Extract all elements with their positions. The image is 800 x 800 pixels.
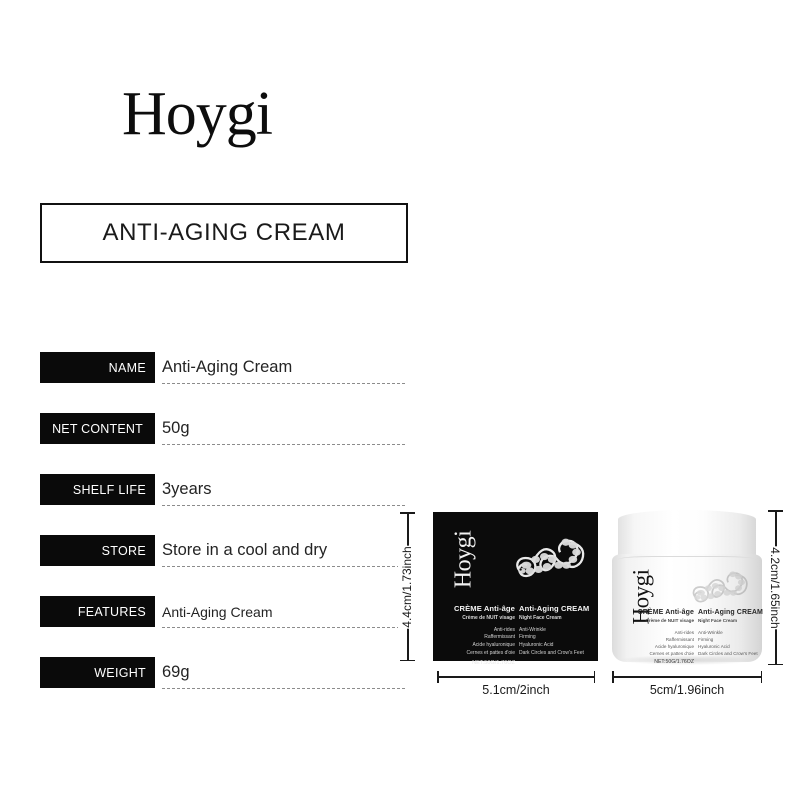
spec-value-cell: 3years [162, 474, 405, 506]
list-item: Acide hyaluronique [634, 643, 694, 650]
carton-label-text: CRÈME Anti-âge Crème de NUIT visage Anti… [441, 604, 593, 666]
spec-label-shelf-life: SHELF LIFE [40, 474, 155, 505]
jar-net-weight: NET:50G/1.76OZ [634, 659, 694, 665]
dimension-cap [612, 671, 614, 683]
jar-fr-head: CRÈME Anti-âge [634, 609, 694, 616]
dimension-jar-width-label: 5cm/1.96inch [650, 683, 724, 697]
carton-fr-benefits: Anti-rides Raffermissant Acide hyaluroni… [441, 627, 515, 658]
table-row: WEIGHT 69g [40, 657, 405, 718]
dimension-jar-height: 4.2cm/1.65inch [764, 510, 786, 665]
product-carton: Hoygi [433, 512, 598, 661]
list-item: Cernes et pattes d'oie [441, 650, 515, 658]
dimension-cap [594, 671, 596, 683]
dimension-jar-height-label: 4.2cm/1.65inch [766, 546, 784, 629]
list-item: Hyaluronic Acid [698, 643, 758, 650]
table-row: STORE Store in a cool and dry [40, 535, 405, 596]
spec-value-net-content: 50g [162, 419, 190, 438]
spec-label-store: STORE [40, 535, 155, 566]
spec-value-name: Anti-Aging Cream [162, 358, 292, 377]
list-item: Dark Circles and Crow's Feet [519, 650, 593, 658]
product-image-group: 4.4cm/1.73inch Hoygi [396, 495, 796, 700]
carton-text-french: CRÈME Anti-âge Crème de NUIT visage Anti… [441, 604, 515, 666]
brand-logo: Hoygi [122, 83, 272, 145]
snake-icon [684, 558, 756, 616]
list-item: Firming [519, 634, 593, 642]
list-item: Anti-rides [441, 627, 515, 635]
spec-value-cell: Anti-Aging Cream [162, 352, 405, 384]
spec-label-weight: WEIGHT [40, 657, 155, 688]
table-row: NAME Anti-Aging Cream [40, 352, 405, 413]
dimension-carton-width: 5.1cm/2inch [437, 671, 595, 693]
dimension-cap [768, 510, 783, 512]
carton-fr-sub: Crème de NUIT visage [441, 615, 515, 621]
carton-logo-text: Hoygi [450, 531, 477, 589]
list-item: Dark Circles and Crow's Feet [698, 650, 758, 657]
list-item: Cernes et pattes d'oie [634, 650, 694, 657]
spec-value-store: Store in a cool and dry [162, 541, 327, 560]
list-item: Firming [698, 636, 758, 643]
spec-value-weight: 69g [162, 663, 190, 682]
dimension-cap [761, 671, 763, 683]
table-row: SHELF LIFE 3years [40, 474, 405, 535]
carton-en-head: Anti-Aging CREAM [519, 604, 593, 613]
dimension-carton-width-label: 5.1cm/2inch [482, 683, 549, 697]
carton-net-weight: NET:50G/1.76OZ [441, 660, 515, 666]
table-row: NET CONTENT 50g [40, 413, 405, 474]
product-title-box: ANTI-AGING CREAM [40, 203, 408, 263]
spec-label-net-content: NET CONTENT [40, 413, 155, 444]
dimension-cap [400, 512, 415, 514]
list-item: Anti-Wrinkle [519, 627, 593, 635]
page-title: ANTI-AGING CREAM [103, 219, 346, 247]
list-item: Acide hyaluronique [441, 642, 515, 650]
jar-en-benefits: Anti-Wrinkle Firming Hyaluronic Acid Dar… [698, 629, 758, 657]
jar-text-english: Anti-Aging CREAM Night Face Cream Anti-W… [698, 609, 758, 665]
spec-value-shelf-life: 3years [162, 480, 212, 499]
product-jar: Hoygi [612, 510, 762, 665]
jar-en-sub: Night Face Cream [698, 618, 758, 623]
jar-en-head: Anti-Aging CREAM [698, 609, 758, 616]
carton-en-benefits: Anti-Wrinkle Firming Hyaluronic Acid Dar… [519, 627, 593, 658]
list-item: Anti-Wrinkle [698, 629, 758, 636]
list-item: Raffermissant [441, 634, 515, 642]
jar-label-text: CRÈME Anti-âge Crème de NUIT visage Anti… [634, 609, 758, 665]
spec-value-cell: Store in a cool and dry [162, 535, 405, 567]
table-row: FEATURES Anti-Aging Cream [40, 596, 405, 657]
jar-fr-benefits: Anti-rides Raffermissant Acide hyaluroni… [634, 629, 694, 657]
carton-en-sub: Night Face Cream [519, 615, 593, 621]
spec-value-features: Anti-Aging Cream [162, 604, 273, 620]
spec-label-name: NAME [40, 352, 155, 383]
spec-value-cell: 50g [162, 413, 405, 445]
carton-fr-head: CRÈME Anti-âge [441, 604, 515, 613]
carton-text-english: Anti-Aging CREAM Night Face Cream Anti-W… [519, 604, 593, 666]
spec-value-cell: Anti-Aging Cream [162, 596, 405, 628]
dimension-carton-height-label: 4.4cm/1.73inch [398, 545, 416, 628]
list-item: Anti-rides [634, 629, 694, 636]
snake-icon [507, 522, 593, 594]
dimension-cap [437, 671, 439, 683]
list-item: Raffermissant [634, 636, 694, 643]
spec-value-cell: 69g [162, 657, 405, 689]
spec-label-features: FEATURES [40, 596, 155, 627]
dimension-line [612, 676, 762, 678]
jar-fr-sub: Crème de NUIT visage [634, 618, 694, 623]
spec-table: NAME Anti-Aging Cream NET CONTENT 50g SH… [40, 352, 405, 718]
list-item: Hyaluronic Acid [519, 642, 593, 650]
jar-text-french: CRÈME Anti-âge Crème de NUIT visage Anti… [634, 609, 694, 665]
dimension-jar-width: 5cm/1.96inch [612, 671, 762, 693]
dimension-line [437, 676, 595, 678]
dimension-cap [400, 660, 415, 662]
dimension-cap [768, 664, 783, 666]
carton-logo: Hoygi [442, 532, 502, 592]
dimension-carton-height: 4.4cm/1.73inch [396, 512, 418, 661]
